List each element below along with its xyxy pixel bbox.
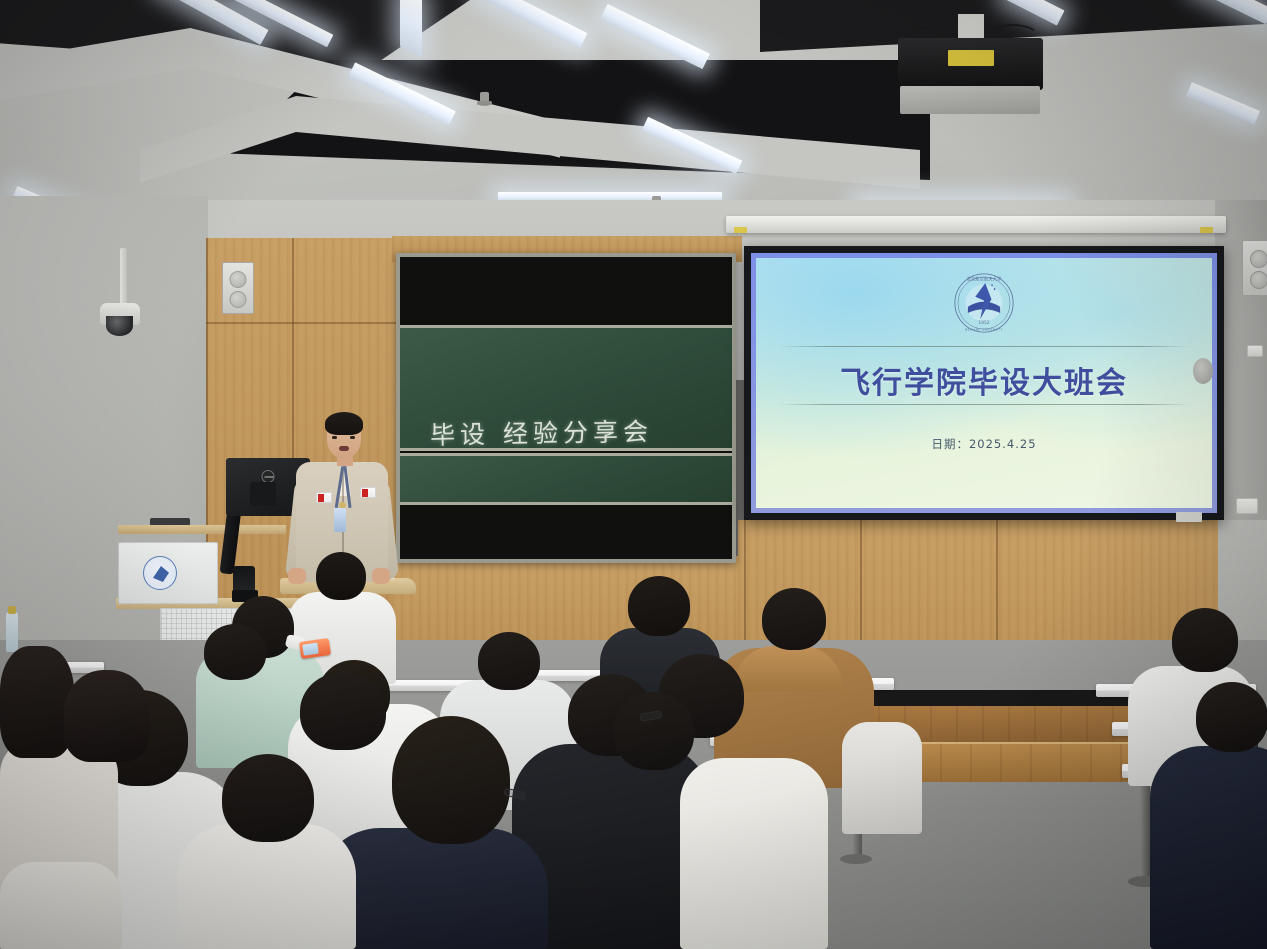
podium-shelf: [118, 525, 286, 534]
presenter-flag-badge: [360, 487, 376, 498]
chalkboard-title-text: 毕设 经验分享会: [430, 412, 654, 452]
student-torso: [680, 758, 828, 949]
student-torso: [0, 862, 122, 949]
presenter-hair: [325, 412, 363, 435]
university-emblem-icon: [143, 556, 177, 590]
roller-tab: [734, 227, 747, 233]
presenter-eye: [332, 436, 337, 439]
presenter-hand: [372, 568, 390, 584]
student-torso: [1150, 746, 1267, 949]
wall-outlet-plate[interactable]: [1236, 498, 1258, 514]
student-head: [628, 576, 690, 636]
roller-tab: [1200, 227, 1213, 233]
projector-label: [948, 50, 994, 66]
student-head: [1172, 608, 1238, 672]
wall-speaker-right: [1242, 240, 1267, 296]
slide-date: 日期：2025.4.25: [756, 436, 1212, 452]
chalkboard-lower-panel: [400, 453, 732, 505]
chalkboard: 毕设 经验分享会 2025.4.25: [396, 253, 736, 563]
presentation-slide: 1952 北京航空航天大学 BEIHANG UNIVERSITY 飞行学院毕设大…: [756, 258, 1212, 508]
student-head: [1196, 682, 1267, 752]
presenter-flag-badge: [316, 492, 332, 503]
water-bottle: [6, 612, 18, 652]
camera-dome-icon: [106, 316, 133, 336]
projector-ceiling-mount: [958, 14, 984, 40]
desk-foot: [840, 854, 872, 864]
student-head: [204, 624, 266, 680]
classroom-photo: 毕设 经验分享会 2025.4.25 1952 北京航空航天大学 BEIHANG…: [0, 0, 1267, 949]
student-head: [762, 588, 826, 650]
speaker-cone-icon: [230, 291, 247, 308]
slide-divider-bottom: [778, 404, 1190, 405]
presenter-id-card: [334, 508, 346, 532]
student-torso: [178, 824, 356, 949]
speaker-cone-icon: [1250, 250, 1267, 268]
svg-text:1952: 1952: [978, 320, 989, 326]
svg-text:BEIHANG UNIVERSITY: BEIHANG UNIVERSITY: [965, 327, 1002, 331]
student-head: [392, 716, 510, 844]
student-head: [614, 692, 694, 770]
student-head: [64, 670, 150, 762]
wall-outlet-plate[interactable]: [1247, 345, 1263, 357]
projector-bottom-plate: [900, 86, 1040, 114]
screen-roller-housing: [726, 216, 1226, 233]
student-head: [222, 754, 314, 842]
slide-title: 飞行学院毕设大班会: [756, 358, 1212, 402]
student-head: [478, 632, 540, 690]
jacket-hood: [734, 646, 842, 692]
screen-side-knob[interactable]: [1193, 358, 1213, 384]
presenter-eye: [350, 436, 355, 439]
monitor-vesa-mount: [250, 482, 276, 506]
speaker-cone-icon: [1250, 271, 1267, 289]
standing-person-head: [316, 552, 366, 600]
slide-divider-top: [778, 346, 1190, 347]
student-head: [0, 646, 74, 758]
chalkboard-writing-surface: 毕设 经验分享会 2025.4.25: [400, 325, 732, 451]
screen-bottom-tab[interactable]: [1176, 512, 1202, 522]
presenter-mouth: [339, 446, 349, 451]
sprinkler-icon: [480, 92, 489, 106]
student-torso: [842, 722, 922, 834]
speaker-cone-icon: [230, 271, 247, 288]
wall-speaker-left: [222, 262, 254, 314]
panel-seam: [206, 322, 396, 324]
presenter-hand: [288, 568, 306, 584]
beihang-university-logo-icon: 1952 北京航空航天大学 BEIHANG UNIVERSITY: [953, 272, 1015, 334]
student-head: [300, 672, 386, 750]
